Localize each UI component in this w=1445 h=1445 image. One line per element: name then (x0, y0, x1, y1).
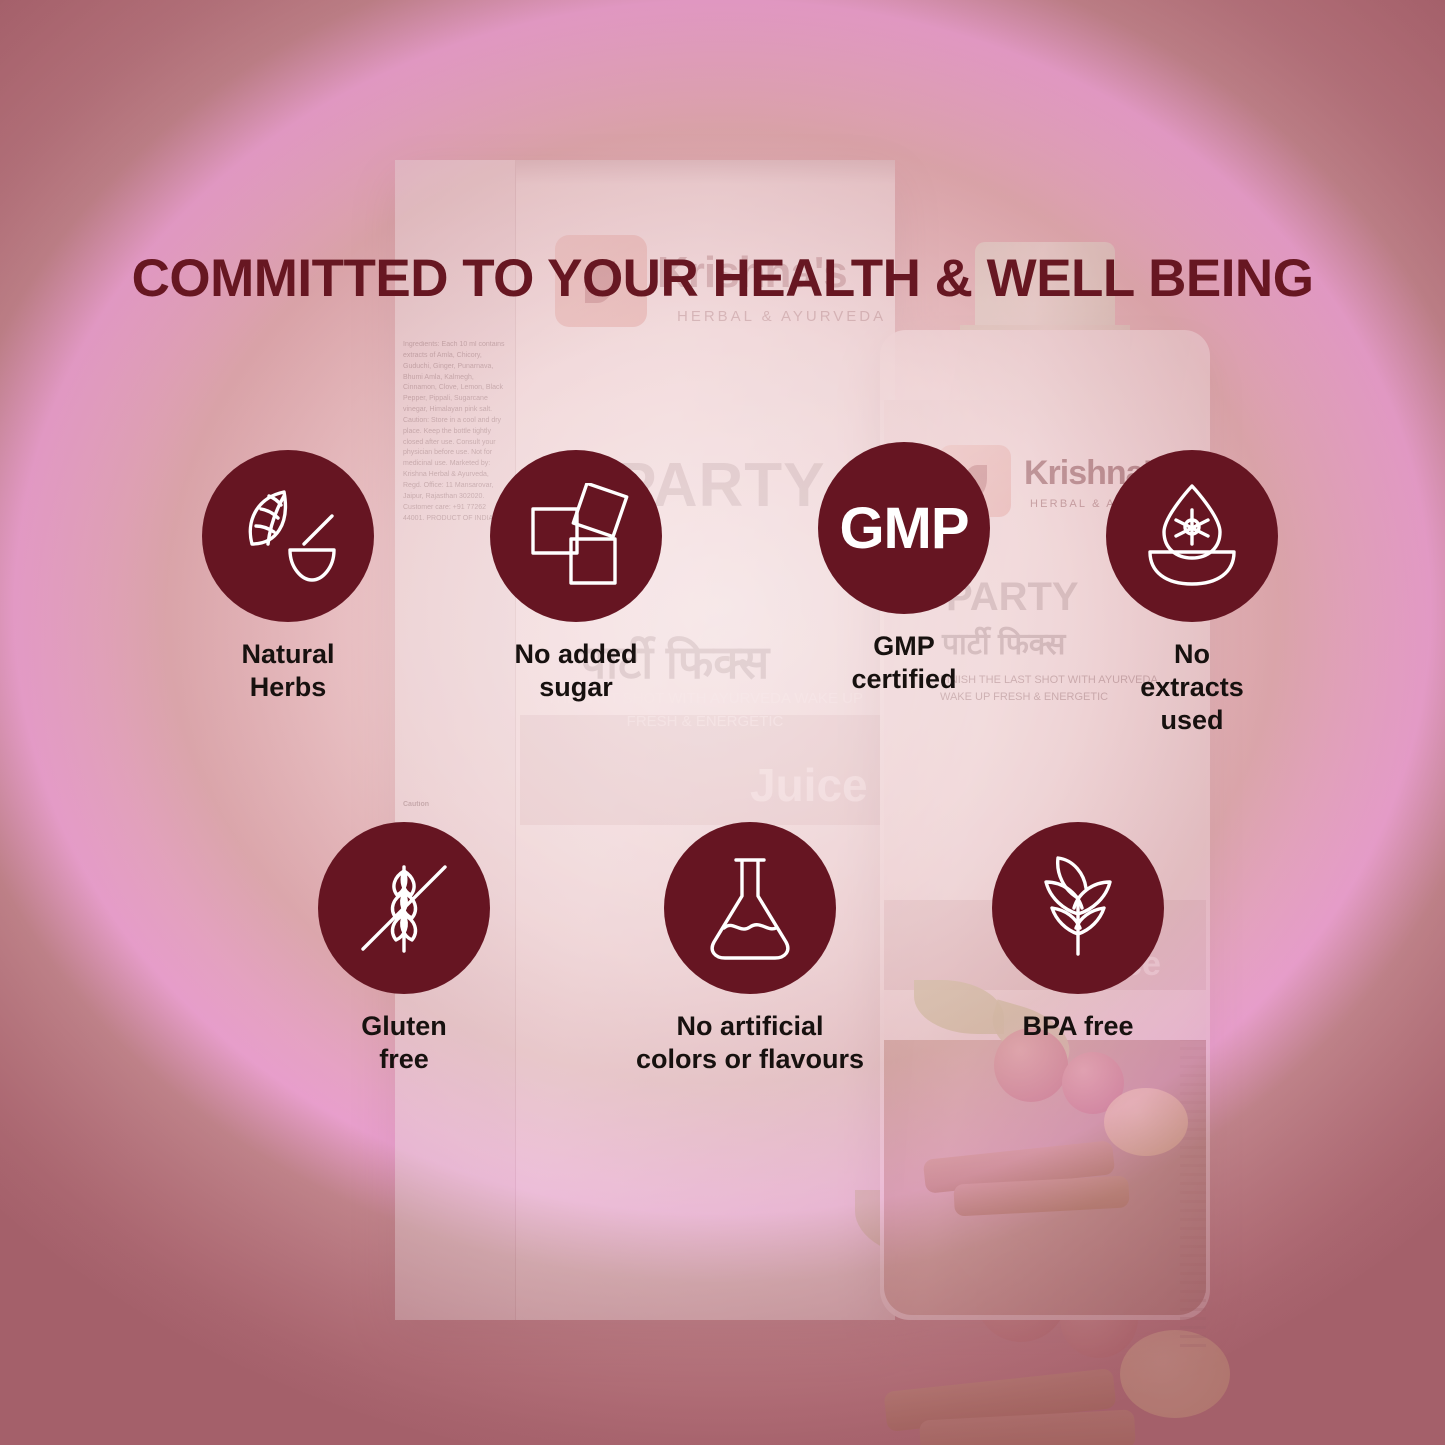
badge-label: No artificial colors or flavours (630, 1010, 870, 1076)
carton-side-panel: Ingredients: Each 10 ml contains extract… (395, 160, 516, 1320)
badge-label: Natural Herbs (168, 638, 408, 704)
badge-label: Gluten free (284, 1010, 524, 1076)
mortar-pestle-leaf-icon (234, 482, 342, 590)
badge-bpa-free: BPA free (958, 822, 1198, 1043)
badge-natural-herbs: Natural Herbs (168, 450, 408, 704)
badge-no-artificial-colors: No artificial colors or flavours (630, 822, 870, 1076)
badge-icon-circle (318, 822, 490, 994)
page-title: COMMITTED TO YOUR HEALTH & WELL BEING (0, 248, 1445, 309)
flask-icon (700, 854, 800, 962)
badge-icon-circle (1106, 450, 1278, 622)
badge-label: No extracts used (1072, 638, 1312, 737)
carton-brand-subtitle: HERBAL & AYURVEDA (677, 308, 886, 325)
leaves-icon (1024, 854, 1132, 962)
wheat-crossed-icon (349, 853, 459, 963)
badge-icon-circle (664, 822, 836, 994)
badge-icon-circle (992, 822, 1164, 994)
badge-label: No added sugar (456, 638, 696, 704)
badge-label: GMP certified (784, 630, 1024, 696)
carton-caution-heading: Caution (403, 800, 507, 811)
badge-gmp-certified: GMP GMP certified (784, 442, 1024, 696)
product-carton: Ingredients: Each 10 ml contains extract… (395, 160, 895, 1320)
promo-banner: Ingredients: Each 10 ml contains extract… (0, 0, 1445, 1445)
sugar-cubes-icon (523, 483, 629, 589)
gmp-text-icon: GMP (839, 495, 968, 562)
droplet-bowl-flower-icon (1138, 482, 1246, 590)
badge-label: BPA free (958, 1010, 1198, 1043)
badge-no-added-sugar: No added sugar (456, 450, 696, 704)
badge-icon-circle: GMP (818, 442, 990, 614)
badge-no-extracts-used: No extracts used (1072, 450, 1312, 737)
badge-icon-circle (202, 450, 374, 622)
carton-juice-label: Juice (750, 758, 868, 812)
badge-gluten-free: Gluten free (284, 822, 524, 1076)
badge-icon-circle (490, 450, 662, 622)
